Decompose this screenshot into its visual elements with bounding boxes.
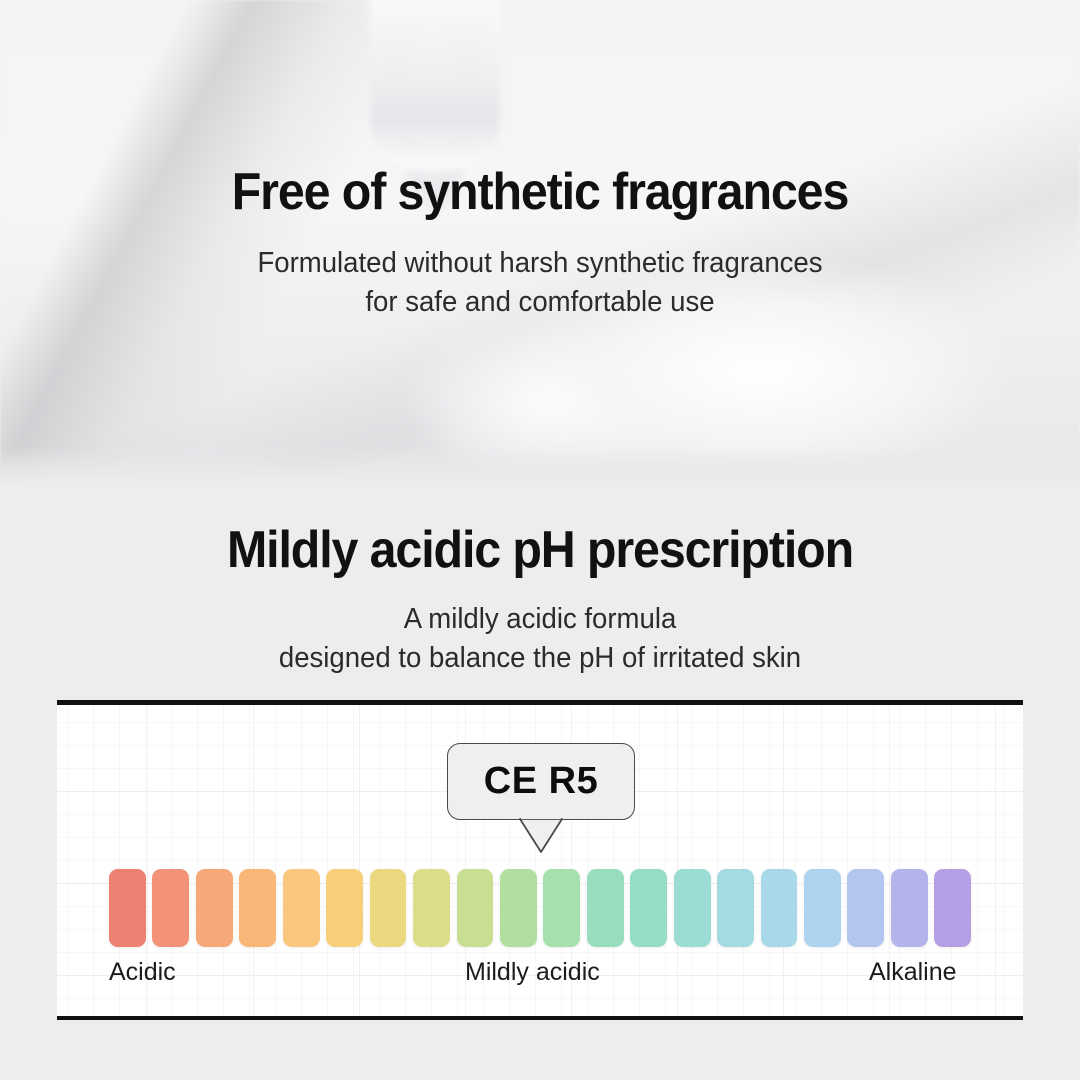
ph-strip <box>587 869 624 947</box>
ph-strip <box>457 869 494 947</box>
ce-r5-callout: CE R5 <box>447 743 635 820</box>
hero-subtext: Formulated without harsh synthetic fragr… <box>27 244 1053 321</box>
ph-strip-row <box>109 869 971 947</box>
hero-subtext-line-1: Formulated without harsh synthetic fragr… <box>27 244 1053 283</box>
ph-strip <box>761 869 798 947</box>
ph-strip <box>109 869 146 947</box>
ph-scale-labels: Acidic Mildly acidic Alkaline <box>57 958 1023 998</box>
ph-strip <box>934 869 971 947</box>
ph-strip <box>717 869 754 947</box>
ph-label-mildly-acidic: Mildly acidic <box>465 958 600 987</box>
ph-strip <box>152 869 189 947</box>
ph-strip <box>326 869 363 947</box>
ph-strip <box>413 869 450 947</box>
ph-label-alkaline: Alkaline <box>869 958 957 987</box>
ph-strip <box>239 869 276 947</box>
hero-text-block: Free of synthetic fragrances Formulated … <box>0 0 1080 321</box>
ph-heading: Mildly acidic pH prescription <box>38 520 1042 580</box>
ce-r5-callout-label: CE R5 <box>484 760 598 803</box>
ph-strip <box>500 869 537 947</box>
ph-strip <box>630 869 667 947</box>
hero-subtext-line-2: for safe and comfortable use <box>27 283 1053 322</box>
hero-bottom-fade <box>0 446 1080 486</box>
ph-strip <box>847 869 884 947</box>
hero-section: Free of synthetic fragrances Formulated … <box>0 0 1080 486</box>
ph-subtext-line-1: A mildly acidic formula <box>27 600 1053 639</box>
ph-label-acidic: Acidic <box>109 958 176 987</box>
ph-strip <box>674 869 711 947</box>
ph-strip <box>543 869 580 947</box>
ph-strip <box>283 869 320 947</box>
ph-subtext-line-2: designed to balance the pH of irritated … <box>27 639 1053 678</box>
ph-text-block: Mildly acidic pH prescription A mildly a… <box>0 486 1080 677</box>
ph-strip <box>196 869 233 947</box>
hero-heading: Free of synthetic fragrances <box>38 162 1042 222</box>
ph-strip <box>370 869 407 947</box>
ph-subtext: A mildly acidic formula designed to bala… <box>27 600 1053 677</box>
callout-pointer-icon <box>519 818 563 854</box>
ph-strip <box>891 869 928 947</box>
ph-strip <box>804 869 841 947</box>
